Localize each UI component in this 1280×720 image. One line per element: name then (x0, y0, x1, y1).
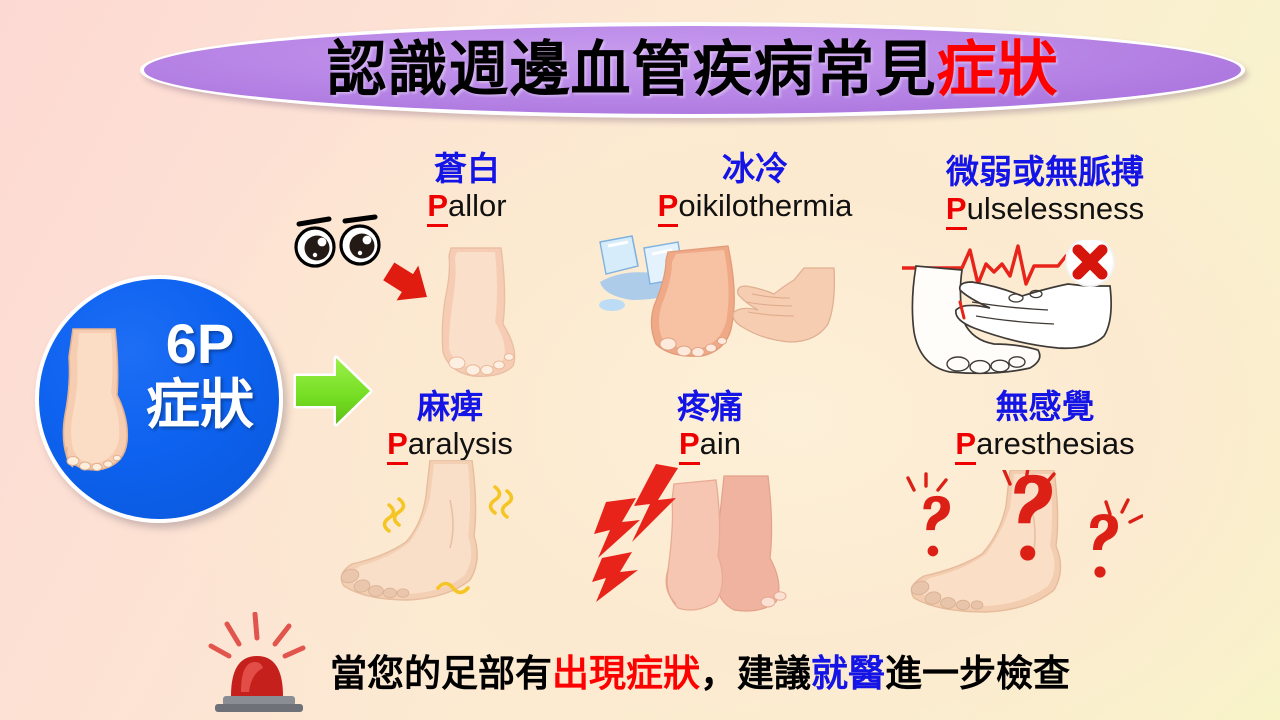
symptom-rest: aresthesias (976, 426, 1135, 461)
badge-foot-icon (59, 327, 133, 475)
symptom-initial: P (946, 191, 967, 230)
symptom-initial: P (658, 188, 679, 227)
symptom-initial: P (679, 426, 700, 465)
symptom-label-en: Paralysis (345, 427, 555, 461)
six-p-badge: 6P 症狀 (35, 275, 283, 523)
symptom-label-en: Paresthesias (920, 427, 1170, 461)
symptom-rest: aralysis (408, 426, 513, 461)
infographic-poster: 認識週邊血管疾病常見症狀 6P 症狀 (0, 0, 1280, 720)
symptom-label-en: Poikilothermia (610, 189, 900, 223)
badge-line-1: 6P (125, 315, 275, 373)
symptom-rest: ulselessness (967, 191, 1144, 226)
footer-part-2: 出現症狀 (552, 653, 700, 694)
feet-with-red-lightning-bolts-art (592, 462, 832, 622)
symptom-cell-poikilothermia: 冰冷 Poikilothermia (610, 152, 900, 223)
symptom-rest: ain (700, 426, 741, 461)
title-banner: 認識週邊血管疾病常見症狀 (140, 22, 1245, 118)
footer-part-1: 當您的足部有 (330, 653, 552, 694)
foot-with-yellow-wavy-lines-art (330, 460, 560, 620)
symptom-cell-paresthesias: 無感覺 Paresthesias (920, 390, 1170, 461)
symptom-label-zh: 無感覺 (920, 390, 1170, 425)
symptom-cell-pain: 疼痛 Pain (620, 390, 800, 461)
ice-cubes-hand-touching-foot-art (598, 232, 838, 377)
foot-with-red-question-marks-art (898, 470, 1143, 620)
symptom-label-zh: 冰冷 (610, 152, 900, 187)
symptom-label-en: Pain (620, 427, 800, 461)
footer-caption: 當您的足部有出現症狀，建議就醫進一步檢查 (330, 655, 1070, 692)
symptom-label-zh: 疼痛 (620, 390, 800, 425)
symptom-cell-paralysis: 麻痺 Paralysis (345, 390, 555, 461)
title-highlight-text: 症狀 (937, 36, 1059, 103)
badge-text-block: 6P 症狀 (125, 315, 275, 433)
symptom-label-zh: 微弱或無脈搏 (900, 155, 1190, 190)
symptom-rest: oikilothermia (678, 188, 852, 223)
red-alarm-light-icon (205, 612, 313, 712)
symptom-initial: P (387, 426, 408, 465)
badge-line-2: 症狀 (125, 377, 275, 433)
symptom-label-en: Pulselessness (900, 192, 1190, 226)
footer-part-4: 就醫 (811, 653, 885, 694)
symptom-cell-pulselessness: 微弱或無脈搏 Pulselessness (900, 155, 1190, 226)
symptom-label-zh: 蒼白 (362, 152, 572, 187)
pale-foot-with-eyes-and-red-arrow-art (285, 200, 530, 380)
title-main-text: 認識週邊血管疾病常見 (327, 36, 937, 103)
symptom-initial: P (955, 426, 976, 465)
foot-pulse-check-ecg-red-x-art (898, 240, 1123, 380)
footer-part-5: 進一步檢查 (885, 653, 1070, 694)
footer-part-3: ，建議 (700, 653, 811, 694)
symptom-label-zh: 麻痺 (345, 390, 555, 425)
page-title: 認識週邊血管疾病常見症狀 (327, 40, 1059, 100)
